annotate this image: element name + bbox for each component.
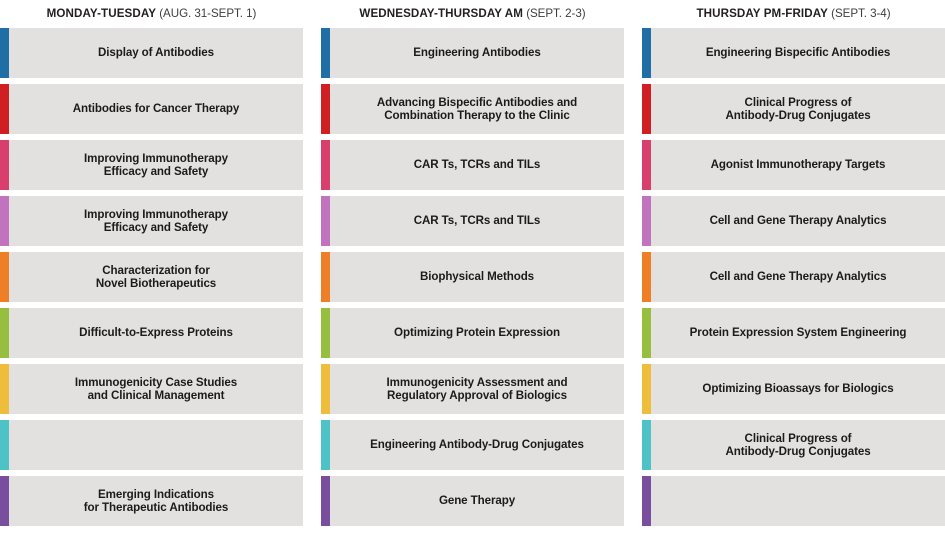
program-column-thursday-pm-friday: THURSDAY PM-FRIDAY (SEPT. 3-4) Engineeri… <box>642 0 945 532</box>
session-cell[interactable]: Biophysical Methods <box>321 252 624 302</box>
session-body: Gene Therapy <box>330 476 624 526</box>
session-cell-empty <box>0 420 303 470</box>
session-body: Protein Expression System Engineering <box>651 308 945 358</box>
session-title: Optimizing Bioassays for Biologics <box>702 382 893 395</box>
session-body: Engineering Bispecific Antibodies <box>651 28 945 78</box>
track-color-bar <box>642 84 651 134</box>
column-header-dates: (SEPT. 3-4) <box>831 7 890 20</box>
session-title: Protein Expression System Engineering <box>690 326 907 339</box>
session-cell[interactable]: Immunogenicity Case Studies and Clinical… <box>0 364 303 414</box>
track-color-bar <box>642 308 651 358</box>
session-body: Improving Immunotherapy Efficacy and Saf… <box>9 196 303 246</box>
session-title: Agonist Immunotherapy Targets <box>711 158 886 171</box>
column-header-wednesday-thursday-am: WEDNESDAY-THURSDAY AM (SEPT. 2-3) <box>321 0 624 28</box>
track-color-bar <box>321 196 330 246</box>
session-cell[interactable]: Difficult-to-Express Proteins <box>0 308 303 358</box>
session-title: Immunogenicity Assessment and Regulatory… <box>387 376 568 403</box>
session-body: Cell and Gene Therapy Analytics <box>651 252 945 302</box>
column-container: MONDAY-TUESDAY (AUG. 31-SEPT. 1) Display… <box>0 0 945 533</box>
session-cell[interactable]: Immunogenicity Assessment and Regulatory… <box>321 364 624 414</box>
track-color-bar <box>642 140 651 190</box>
session-cell[interactable]: Clinical Progress of Antibody-Drug Conju… <box>642 84 945 134</box>
session-cell[interactable]: Engineering Bispecific Antibodies <box>642 28 945 78</box>
session-title: Improving Immunotherapy Efficacy and Saf… <box>84 208 228 235</box>
session-title: Immunogenicity Case Studies and Clinical… <box>75 376 237 403</box>
session-title: Clinical Progress of Antibody-Drug Conju… <box>725 96 870 123</box>
track-color-bar <box>0 364 9 414</box>
session-cell[interactable]: Optimizing Protein Expression <box>321 308 624 358</box>
session-cell[interactable]: Advancing Bispecific Antibodies and Comb… <box>321 84 624 134</box>
session-body: Difficult-to-Express Proteins <box>9 308 303 358</box>
session-cell-empty <box>642 476 945 526</box>
session-body: Engineering Antibodies <box>330 28 624 78</box>
track-color-bar <box>642 476 651 526</box>
session-body <box>9 420 303 470</box>
session-title: Characterization for Novel Biotherapeuti… <box>96 264 216 291</box>
track-color-bar <box>321 28 330 78</box>
session-title: Improving Immunotherapy Efficacy and Saf… <box>84 152 228 179</box>
session-body: Advancing Bispecific Antibodies and Comb… <box>330 84 624 134</box>
session-cell[interactable]: Agonist Immunotherapy Targets <box>642 140 945 190</box>
session-body: Clinical Progress of Antibody-Drug Conju… <box>651 84 945 134</box>
session-title: Engineering Antibodies <box>413 46 540 59</box>
track-color-bar <box>642 420 651 470</box>
session-cell[interactable]: Clinical Progress of Antibody-Drug Conju… <box>642 420 945 470</box>
column-header-days: MONDAY-TUESDAY <box>47 7 156 20</box>
session-body: Clinical Progress of Antibody-Drug Conju… <box>651 420 945 470</box>
session-body: Emerging Indications for Therapeutic Ant… <box>9 476 303 526</box>
session-cell[interactable]: CAR Ts, TCRs and TILs <box>321 140 624 190</box>
session-title: Optimizing Protein Expression <box>394 326 560 339</box>
session-cell[interactable]: Engineering Antibody-Drug Conjugates <box>321 420 624 470</box>
session-cell[interactable]: CAR Ts, TCRs and TILs <box>321 196 624 246</box>
column-header-days: WEDNESDAY-THURSDAY AM <box>359 7 523 20</box>
track-color-bar <box>321 420 330 470</box>
session-title: Cell and Gene Therapy Analytics <box>710 214 887 227</box>
column-header-monday-tuesday: MONDAY-TUESDAY (AUG. 31-SEPT. 1) <box>0 0 303 28</box>
session-cell[interactable]: Emerging Indications for Therapeutic Ant… <box>0 476 303 526</box>
track-color-bar <box>642 28 651 78</box>
session-cell[interactable]: Antibodies for Cancer Therapy <box>0 84 303 134</box>
column-header-dates: (SEPT. 2-3) <box>526 7 585 20</box>
session-body: Optimizing Bioassays for Biologics <box>651 364 945 414</box>
session-cell[interactable]: Engineering Antibodies <box>321 28 624 78</box>
track-color-bar <box>0 308 9 358</box>
track-color-bar <box>321 308 330 358</box>
session-body: Immunogenicity Case Studies and Clinical… <box>9 364 303 414</box>
session-cell[interactable]: Gene Therapy <box>321 476 624 526</box>
session-title: Advancing Bispecific Antibodies and Comb… <box>377 96 577 123</box>
session-body: Characterization for Novel Biotherapeuti… <box>9 252 303 302</box>
track-color-bar <box>0 476 9 526</box>
track-color-bar <box>642 364 651 414</box>
session-body: Antibodies for Cancer Therapy <box>9 84 303 134</box>
track-color-bar <box>0 28 9 78</box>
session-cell[interactable]: Characterization for Novel Biotherapeuti… <box>0 252 303 302</box>
session-title: Gene Therapy <box>439 494 515 507</box>
session-title: CAR Ts, TCRs and TILs <box>414 214 541 227</box>
track-color-bar <box>0 420 9 470</box>
track-color-bar <box>0 84 9 134</box>
program-track-grid: MONDAY-TUESDAY (AUG. 31-SEPT. 1) Display… <box>0 0 945 533</box>
track-color-bar <box>642 196 651 246</box>
session-cell[interactable]: Protein Expression System Engineering <box>642 308 945 358</box>
session-body: CAR Ts, TCRs and TILs <box>330 196 624 246</box>
track-color-bar <box>0 140 9 190</box>
session-body: Biophysical Methods <box>330 252 624 302</box>
session-cell[interactable]: Cell and Gene Therapy Analytics <box>642 196 945 246</box>
column-header-thursday-pm-friday: THURSDAY PM-FRIDAY (SEPT. 3-4) <box>642 0 945 28</box>
session-list-wednesday-thursday-am: Engineering Antibodies Advancing Bispeci… <box>321 28 624 532</box>
session-title: Clinical Progress of Antibody-Drug Conju… <box>725 432 870 459</box>
session-cell[interactable]: Display of Antibodies <box>0 28 303 78</box>
session-list-thursday-pm-friday: Engineering Bispecific Antibodies Clinic… <box>642 28 945 532</box>
session-list-monday-tuesday: Display of Antibodies Antibodies for Can… <box>0 28 303 532</box>
session-body: Engineering Antibody-Drug Conjugates <box>330 420 624 470</box>
session-title: Emerging Indications for Therapeutic Ant… <box>84 488 228 515</box>
session-title: Antibodies for Cancer Therapy <box>73 102 240 115</box>
session-body: Display of Antibodies <box>9 28 303 78</box>
column-header-days: THURSDAY PM-FRIDAY <box>696 7 828 20</box>
track-color-bar <box>321 476 330 526</box>
session-title: Engineering Antibody-Drug Conjugates <box>370 438 584 451</box>
session-title: Display of Antibodies <box>98 46 214 59</box>
track-color-bar <box>0 196 9 246</box>
session-body <box>651 476 945 526</box>
program-column-monday-tuesday: MONDAY-TUESDAY (AUG. 31-SEPT. 1) Display… <box>0 0 303 532</box>
session-title: Difficult-to-Express Proteins <box>79 326 233 339</box>
session-title: Cell and Gene Therapy Analytics <box>710 270 887 283</box>
session-body: Immunogenicity Assessment and Regulatory… <box>330 364 624 414</box>
session-title: Engineering Bispecific Antibodies <box>706 46 890 59</box>
session-cell[interactable]: Improving Immunotherapy Efficacy and Saf… <box>0 140 303 190</box>
track-color-bar <box>321 364 330 414</box>
session-title: Biophysical Methods <box>420 270 534 283</box>
track-color-bar <box>321 140 330 190</box>
track-color-bar <box>321 84 330 134</box>
session-cell[interactable]: Improving Immunotherapy Efficacy and Saf… <box>0 196 303 246</box>
track-color-bar <box>0 252 9 302</box>
session-body: CAR Ts, TCRs and TILs <box>330 140 624 190</box>
column-header-dates: (AUG. 31-SEPT. 1) <box>159 7 256 20</box>
session-body: Agonist Immunotherapy Targets <box>651 140 945 190</box>
session-body: Optimizing Protein Expression <box>330 308 624 358</box>
track-color-bar <box>321 252 330 302</box>
program-column-wednesday-thursday-am: WEDNESDAY-THURSDAY AM (SEPT. 2-3) Engine… <box>321 0 624 532</box>
session-cell[interactable]: Optimizing Bioassays for Biologics <box>642 364 945 414</box>
session-cell[interactable]: Cell and Gene Therapy Analytics <box>642 252 945 302</box>
session-body: Improving Immunotherapy Efficacy and Saf… <box>9 140 303 190</box>
track-color-bar <box>642 252 651 302</box>
session-body: Cell and Gene Therapy Analytics <box>651 196 945 246</box>
session-title: CAR Ts, TCRs and TILs <box>414 158 541 171</box>
